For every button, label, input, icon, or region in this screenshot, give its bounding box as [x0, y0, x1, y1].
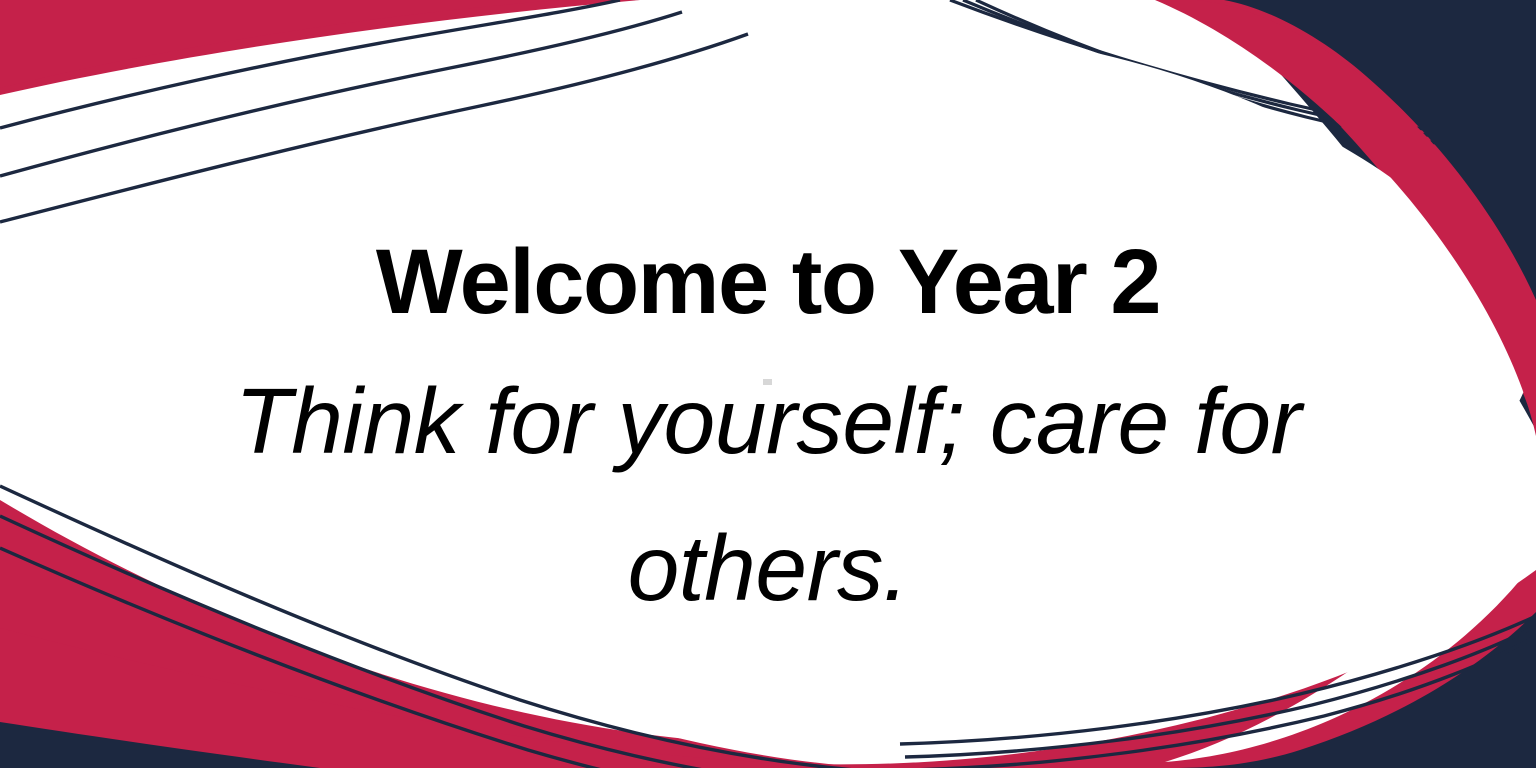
page-title: Welcome to Year 2 [376, 236, 1160, 328]
motto-line-2: others. [58, 495, 1478, 642]
slide-text-content: Welcome to Year 2 Think for yourself; ca… [0, 0, 1536, 768]
motto-block: Think for yourself; care for others. [58, 348, 1478, 642]
slide-canvas: Welcome to Year 2 Think for yourself; ca… [0, 0, 1536, 768]
motto-line-1: Think for yourself; care for [58, 348, 1478, 495]
